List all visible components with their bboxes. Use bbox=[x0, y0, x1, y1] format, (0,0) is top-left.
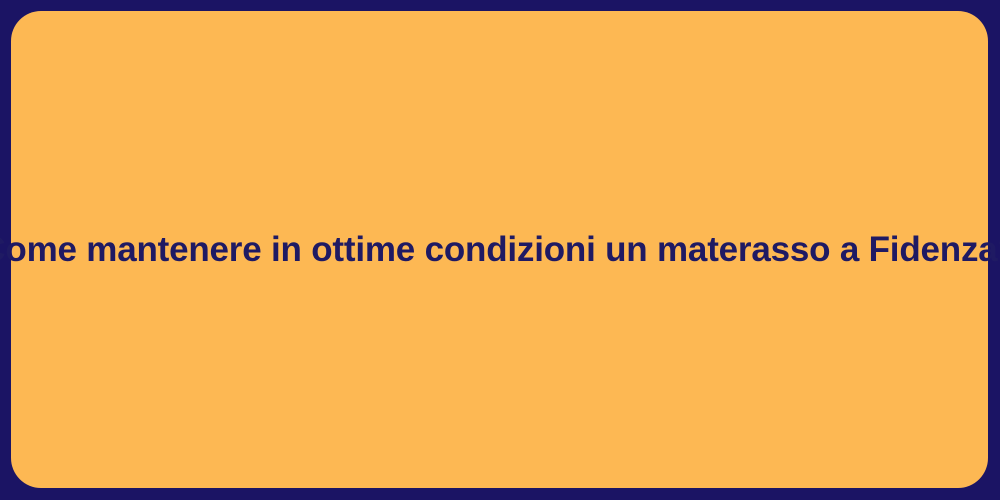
banner-frame: Come mantenere in ottime condizioni un m… bbox=[0, 0, 1000, 500]
page-title: Come mantenere in ottime condizioni un m… bbox=[0, 228, 1000, 272]
banner-panel: Come mantenere in ottime condizioni un m… bbox=[11, 11, 988, 488]
